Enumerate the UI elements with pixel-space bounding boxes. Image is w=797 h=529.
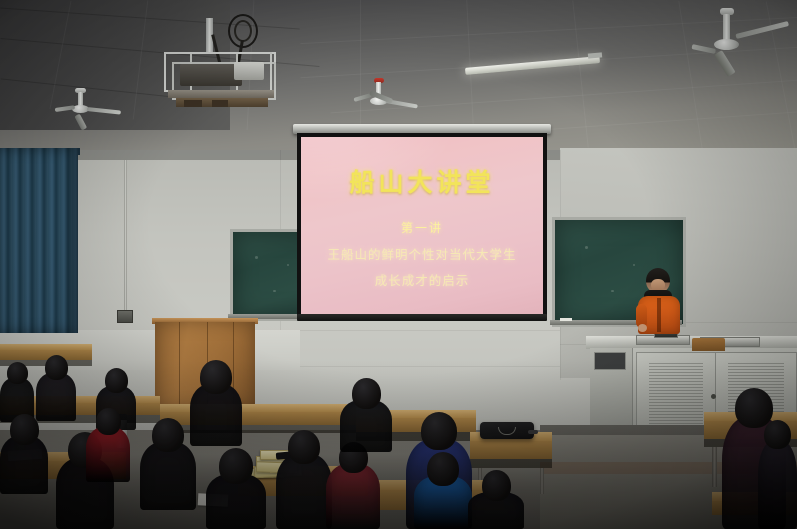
audience-member[interactable]: [758, 420, 797, 529]
audience-member-head: [427, 452, 459, 486]
audience-member-torso: [758, 441, 797, 529]
audience-member[interactable]: [86, 408, 130, 482]
audience-member-head: [352, 378, 381, 409]
audience-member-torso: [140, 442, 196, 510]
audience-member-head: [219, 448, 253, 484]
audience-member[interactable]: [326, 442, 380, 529]
audience-member-head: [10, 414, 39, 445]
audience-member-head: [288, 430, 320, 464]
audience-member-head: [7, 362, 28, 384]
audience-member[interactable]: [340, 378, 392, 452]
audience-member[interactable]: [140, 418, 196, 510]
audience-member-head: [482, 470, 511, 501]
audience-member[interactable]: [206, 448, 266, 529]
audience-member-torso: [276, 454, 332, 529]
audience-member[interactable]: [190, 360, 242, 446]
audience-member[interactable]: [0, 362, 34, 422]
audience-member-head: [45, 355, 68, 380]
audience-member-head: [200, 360, 232, 394]
audience-member[interactable]: [414, 452, 472, 529]
audience-member-head: [764, 420, 791, 449]
audience-member[interactable]: [0, 414, 48, 494]
lecture-hall-photo: 船山大讲堂 第一讲 王船山的鲜明个性对当代大学生 成长成才的启示: [0, 0, 797, 529]
audience-member[interactable]: [468, 470, 524, 529]
audience-member-head: [105, 368, 128, 393]
audience-member[interactable]: [276, 430, 332, 529]
audience-member-torso: [86, 427, 130, 482]
audience: [0, 0, 797, 529]
audience-member-head: [96, 408, 121, 435]
audience-member-head: [152, 418, 184, 452]
audience-member-torso: [326, 464, 380, 529]
audience-member[interactable]: [36, 355, 76, 421]
audience-member-head: [421, 412, 457, 450]
